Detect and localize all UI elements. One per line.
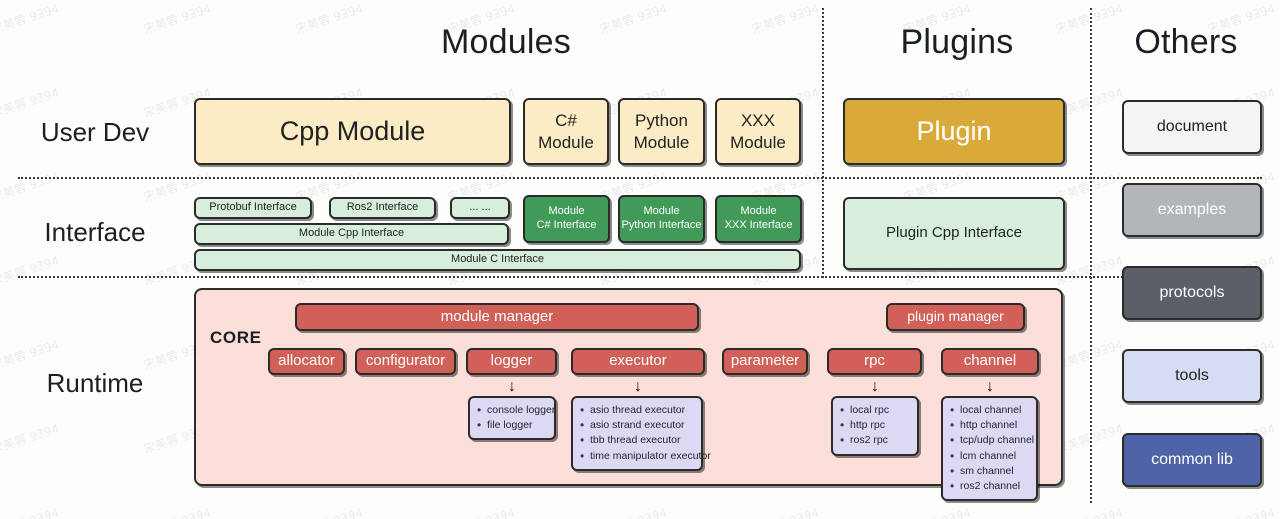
node-plugin[interactable]: Plugin bbox=[843, 98, 1065, 165]
architecture-diagram: 宋美蓉 9394宋美蓉 9394宋美蓉 9394宋美蓉 9394宋美蓉 9394… bbox=[0, 0, 1280, 519]
node-label-line2: Python Interface bbox=[621, 219, 701, 233]
watermark-text: 宋美蓉 9394 bbox=[141, 504, 213, 519]
divider-interface-runtime bbox=[18, 276, 1262, 278]
detail-item: http channel bbox=[949, 418, 1029, 433]
detail-item: tbb thread executor bbox=[579, 433, 694, 448]
node-label: common lib bbox=[1151, 450, 1233, 470]
arrow-down-icon-logger: ↓ bbox=[505, 378, 519, 396]
node-other-tools[interactable]: tools bbox=[1122, 349, 1262, 403]
node-allocator[interactable]: allocator bbox=[268, 348, 345, 375]
node-other-common-lib[interactable]: common lib bbox=[1122, 433, 1262, 487]
node-module-python-interface[interactable]: Module Python Interface bbox=[618, 195, 705, 243]
node-other-protocols[interactable]: protocols bbox=[1122, 266, 1262, 320]
detail-item: lcm channel bbox=[949, 449, 1029, 464]
node-plugin-cpp-interface[interactable]: Plugin Cpp Interface bbox=[843, 197, 1065, 270]
node-label-line2: Module bbox=[634, 132, 690, 153]
detail-item: console logger bbox=[476, 403, 547, 418]
detail-items: local channelhttp channeltcp/udp channel… bbox=[949, 403, 1029, 494]
detail-list-logger: console loggerfile logger bbox=[468, 396, 556, 440]
column-header-modules: Modules bbox=[190, 23, 822, 62]
node-plugin-manager[interactable]: plugin manager bbox=[886, 303, 1025, 331]
node-label: module manager bbox=[441, 308, 554, 327]
column-header-plugins: Plugins bbox=[824, 23, 1090, 62]
node-label: Protobuf Interface bbox=[209, 201, 296, 215]
node-label: Ros2 Interface bbox=[347, 201, 419, 215]
detail-list-channel: local channelhttp channeltcp/udp channel… bbox=[941, 396, 1038, 501]
detail-item: local rpc bbox=[839, 403, 910, 418]
row-label-user-dev: User Dev bbox=[0, 117, 190, 148]
node-xxx-module[interactable]: XXX Module bbox=[715, 98, 801, 165]
node-label-line2: Module bbox=[538, 132, 594, 153]
node-more-interfaces[interactable]: ... ... bbox=[450, 197, 510, 219]
detail-item: http rpc bbox=[839, 418, 910, 433]
watermark-text: 宋美蓉 9394 bbox=[0, 504, 61, 519]
detail-list-rpc: local rpchttp rpcros2 rpc bbox=[831, 396, 919, 456]
node-module-csharp-interface[interactable]: Module C# Interface bbox=[523, 195, 610, 243]
node-configurator[interactable]: configurator bbox=[355, 348, 456, 375]
node-python-module[interactable]: Python Module bbox=[618, 98, 705, 165]
detail-item: sm channel bbox=[949, 464, 1029, 479]
node-label: Module Cpp Interface bbox=[299, 227, 404, 241]
watermark-text: 宋美蓉 9394 bbox=[901, 504, 973, 519]
node-label-line1: Module bbox=[725, 205, 793, 219]
watermark-text: 宋美蓉 9394 bbox=[0, 84, 61, 122]
watermark-text: 宋美蓉 9394 bbox=[0, 168, 61, 206]
node-label: logger bbox=[491, 352, 533, 371]
node-label: document bbox=[1157, 117, 1227, 137]
detail-item: time manipulator executor bbox=[579, 449, 694, 464]
node-module-manager[interactable]: module manager bbox=[295, 303, 699, 331]
node-label: plugin manager bbox=[907, 308, 1004, 326]
arrow-down-icon-executor: ↓ bbox=[631, 378, 645, 396]
node-label: rpc bbox=[864, 352, 885, 371]
node-cpp-module[interactable]: Cpp Module bbox=[194, 98, 511, 165]
row-label-runtime: Runtime bbox=[0, 368, 190, 399]
node-label-line1: C# bbox=[538, 110, 594, 131]
node-label: tools bbox=[1175, 366, 1209, 386]
node-label: Module C Interface bbox=[451, 253, 544, 267]
node-module-c-interface[interactable]: Module C Interface bbox=[194, 249, 801, 271]
node-label: channel bbox=[964, 352, 1017, 371]
node-label-line2: Module bbox=[730, 132, 786, 153]
node-other-document[interactable]: document bbox=[1122, 100, 1262, 154]
node-label-line1: XXX bbox=[730, 110, 786, 131]
node-executor[interactable]: executor bbox=[571, 348, 705, 375]
detail-item: file logger bbox=[476, 418, 547, 433]
watermark-text: 宋美蓉 9394 bbox=[0, 252, 61, 290]
detail-item: local channel bbox=[949, 403, 1029, 418]
core-label: CORE bbox=[210, 328, 262, 348]
node-logger[interactable]: logger bbox=[466, 348, 557, 375]
watermark-text: 宋美蓉 9394 bbox=[0, 420, 61, 458]
divider-plugins-others bbox=[1090, 8, 1092, 503]
watermark-text: 宋美蓉 9394 bbox=[1205, 504, 1277, 519]
node-label-line2: C# Interface bbox=[537, 219, 597, 233]
node-module-xxx-interface[interactable]: Module XXX Interface bbox=[715, 195, 802, 243]
watermark-text: 宋美蓉 9394 bbox=[749, 504, 821, 519]
divider-userdev-interface bbox=[18, 177, 1262, 179]
column-header-others: Others bbox=[1092, 23, 1280, 62]
node-label: examples bbox=[1158, 200, 1226, 220]
detail-items: local rpchttp rpcros2 rpc bbox=[839, 403, 910, 449]
node-label-line2: XXX Interface bbox=[725, 219, 793, 233]
node-module-cpp-interface[interactable]: Module Cpp Interface bbox=[194, 223, 509, 245]
node-channel[interactable]: channel bbox=[941, 348, 1039, 375]
detail-items: asio thread executorasio strand executor… bbox=[579, 403, 694, 464]
node-protobuf-interface[interactable]: Protobuf Interface bbox=[194, 197, 312, 219]
node-label: ... ... bbox=[469, 201, 490, 215]
node-rpc[interactable]: rpc bbox=[827, 348, 922, 375]
watermark-text: 宋美蓉 9394 bbox=[293, 504, 365, 519]
node-label: Cpp Module bbox=[280, 115, 426, 149]
arrow-down-icon-channel: ↓ bbox=[983, 378, 997, 396]
watermark-text: 宋美蓉 9394 bbox=[597, 504, 669, 519]
node-label-line1: Module bbox=[537, 205, 597, 219]
detail-list-executor: asio thread executorasio strand executor… bbox=[571, 396, 703, 471]
node-label: executor bbox=[609, 352, 667, 371]
detail-item: tcp/udp channel bbox=[949, 433, 1029, 448]
arrow-down-icon-rpc: ↓ bbox=[868, 378, 882, 396]
watermark-text: 宋美蓉 9394 bbox=[445, 504, 517, 519]
detail-item: asio thread executor bbox=[579, 403, 694, 418]
node-label: protocols bbox=[1160, 283, 1225, 303]
node-label: allocator bbox=[278, 352, 335, 371]
detail-item: ros2 rpc bbox=[839, 433, 910, 448]
node-label: Plugin bbox=[916, 115, 991, 149]
node-label: parameter bbox=[731, 352, 799, 371]
detail-items: console loggerfile logger bbox=[476, 403, 547, 433]
detail-item: ros2 channel bbox=[949, 479, 1029, 494]
node-csharp-module[interactable]: C# Module bbox=[523, 98, 609, 165]
watermark-text: 宋美蓉 9394 bbox=[1053, 504, 1125, 519]
row-label-interface: Interface bbox=[0, 217, 190, 248]
watermark-text: 宋美蓉 9394 bbox=[0, 0, 61, 37]
node-label: configurator bbox=[366, 352, 445, 371]
node-label: Plugin Cpp Interface bbox=[886, 224, 1022, 243]
node-ros2-interface[interactable]: Ros2 Interface bbox=[329, 197, 436, 219]
node-other-examples[interactable]: examples bbox=[1122, 183, 1262, 237]
node-label-line1: Module bbox=[621, 205, 701, 219]
node-parameter[interactable]: parameter bbox=[722, 348, 808, 375]
detail-item: asio strand executor bbox=[579, 418, 694, 433]
node-label-line1: Python bbox=[634, 110, 690, 131]
